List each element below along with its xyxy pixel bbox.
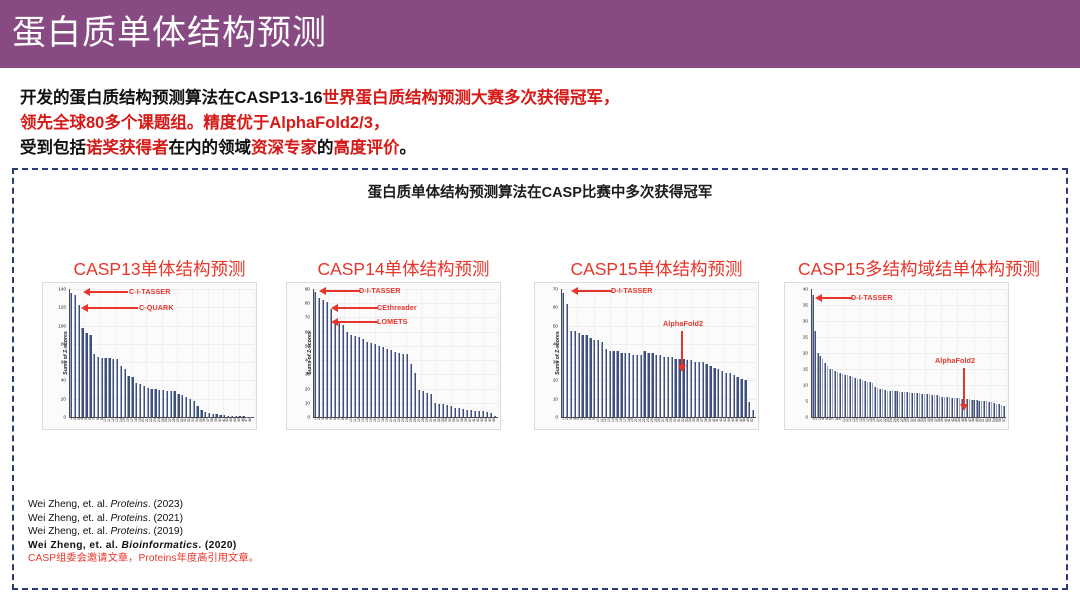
bar [906, 392, 908, 417]
bar [869, 382, 871, 417]
bar [829, 369, 831, 417]
bar [446, 405, 448, 417]
chart-title-casp15: CASP15单体结构预测 [534, 258, 779, 280]
charts-row: CASP13单体结构预测Sums of Z-scores020406080100… [24, 258, 1060, 458]
bar [458, 408, 460, 417]
annotation-label: C-QUARK [139, 303, 174, 312]
bar [921, 394, 923, 417]
bar [713, 368, 715, 417]
ref2-author: Wei Zheng, et. al. [28, 513, 111, 524]
bar [204, 412, 206, 417]
bar [402, 354, 404, 417]
bar [235, 416, 237, 417]
bar [901, 392, 903, 417]
bar [725, 373, 727, 417]
bar [986, 401, 988, 417]
bar-series [562, 289, 755, 417]
y-tick-label: 60 [543, 305, 558, 310]
bar [450, 406, 452, 417]
bar [632, 355, 634, 417]
bar [993, 403, 995, 417]
bar [877, 388, 879, 417]
bar [862, 380, 864, 417]
y-tick-label: 30 [543, 360, 558, 365]
x-tick-label: 50 [751, 418, 755, 430]
bar [215, 414, 217, 417]
bar [422, 391, 424, 417]
bar [219, 415, 221, 417]
bar [651, 353, 653, 417]
bar [705, 364, 707, 417]
bar [817, 353, 819, 417]
y-tick-label: 100 [51, 323, 66, 328]
bar [426, 393, 428, 417]
bar [837, 372, 839, 417]
bar [857, 379, 859, 417]
bar [486, 412, 488, 417]
bar [374, 344, 376, 417]
y-tick-label: 30 [295, 372, 310, 377]
bar [322, 300, 324, 417]
y-tick-label: 25 [793, 335, 808, 340]
bar [326, 302, 328, 417]
bar [1003, 406, 1005, 417]
bar [896, 391, 898, 417]
bar-series [812, 289, 1005, 417]
bar [844, 375, 846, 417]
bar [438, 404, 440, 418]
bar [832, 369, 834, 417]
vertical-gridline [1006, 289, 1007, 417]
bar [976, 400, 978, 417]
bar [698, 362, 700, 417]
bar [430, 394, 432, 417]
bar [894, 391, 896, 417]
annotation-label: CEthreader [377, 303, 417, 312]
bar [334, 322, 336, 417]
bar [729, 373, 731, 417]
y-tick-label: 40 [51, 378, 66, 383]
ref3-author: Wei Zheng, et. al. [28, 526, 111, 537]
bar [752, 410, 754, 417]
bar [904, 392, 906, 417]
reference-line: Wei Zheng, et. al. Proteins. (2021) [28, 512, 259, 526]
bar [909, 393, 911, 417]
bar [478, 411, 480, 417]
y-tick-label: 50 [295, 343, 310, 348]
bar [78, 305, 80, 417]
bar [864, 381, 866, 417]
bar [655, 355, 657, 417]
x-tick-labels: 1234567891011121314151617181920212223242… [314, 418, 497, 430]
bar [852, 377, 854, 417]
bar [566, 304, 568, 417]
plot-area-casp14: Sums of Z-scores010203040506070809012345… [286, 282, 501, 430]
bar [887, 391, 889, 417]
bar [934, 395, 936, 417]
bar [470, 410, 472, 417]
y-tick-label: 0 [51, 415, 66, 420]
plot-area-casp15: Sums of Z-scores010203040506070123456789… [534, 282, 759, 430]
bar [847, 375, 849, 417]
bar [839, 373, 841, 417]
y-tick-label: 40 [543, 341, 558, 346]
vertical-gridline [756, 289, 757, 417]
bar [74, 295, 76, 417]
panel-title: 蛋白质单体结构预测算法在CASP比赛中多次获得冠军 [14, 181, 1066, 202]
x-tick-labels: 1234567891011121314151617181920212223242… [812, 418, 1005, 430]
chart-casp14: CASP14单体结构预测Sums of Z-scores010203040506… [286, 258, 521, 430]
bar [362, 339, 364, 417]
bar [386, 349, 388, 417]
y-tick-label: 35 [793, 303, 808, 308]
ref1-author: Wei Zheng, et. al. [28, 499, 111, 510]
reference-line: Wei Zheng, et. al. Proteins. (2023) [28, 498, 259, 512]
ref4-journal: Bioinformatics [121, 540, 198, 551]
ref2-journal: Proteins [111, 513, 148, 524]
y-axis-label: Sums of Z-scores [307, 331, 313, 375]
bar [822, 359, 824, 417]
bar [969, 399, 971, 417]
bar [690, 360, 692, 417]
bar [956, 398, 958, 417]
bar [605, 349, 607, 417]
bar [812, 295, 814, 417]
annotation-label: AlphaFold2 [663, 319, 703, 328]
bar [740, 379, 742, 417]
bar [589, 338, 591, 417]
bar [914, 393, 916, 417]
references-block: Wei Zheng, et. al. Proteins. (2023) Wei … [28, 498, 259, 566]
bar [585, 335, 587, 417]
bar [944, 397, 946, 417]
bar [562, 293, 564, 417]
bar [139, 384, 141, 417]
reference-line: Wei Zheng, et. al. Proteins. (2019) [28, 525, 259, 539]
y-tick-label: 20 [295, 386, 310, 391]
bar [882, 389, 884, 417]
annotation-label: D-I-TASSER [611, 286, 653, 295]
bar [601, 342, 603, 417]
y-tick-label: 80 [51, 341, 66, 346]
x-tick-label: 48 [249, 418, 253, 430]
intro-line3-d: 资深专家 [251, 139, 317, 157]
bar [150, 389, 152, 417]
y-axis-label: Sums of Z-scores [555, 331, 561, 375]
chart-title-casp13: CASP13单体结构预测 [42, 258, 277, 280]
bar [246, 417, 248, 418]
annotation-label: LOMETS [377, 317, 408, 326]
bar [108, 358, 110, 417]
bar [354, 336, 356, 417]
bar [931, 395, 933, 417]
bar [919, 393, 921, 417]
y-tick-label: 40 [295, 358, 310, 363]
header-bar: 蛋白质单体结构预测 [0, 0, 1080, 68]
ref4-rest: . (2020) [198, 540, 236, 551]
y-tick-label: 80 [295, 301, 310, 306]
y-tick-label: 10 [793, 383, 808, 388]
bar [318, 298, 320, 417]
intro-line3-b: 诺奖获得者 [86, 139, 169, 157]
slide-root: 蛋白质单体结构预测 开发的蛋白质结构预测算法在CASP13-16世界蛋白质结构预… [0, 0, 1080, 603]
y-tick-label: 60 [51, 360, 66, 365]
y-tick-label: 0 [295, 415, 310, 420]
y-tick-label: 5 [793, 399, 808, 404]
bar [899, 392, 901, 417]
y-tick-label: 120 [51, 305, 66, 310]
bar [147, 388, 149, 417]
bar [212, 414, 214, 417]
y-axis-label: Sums of Z-scores [63, 331, 69, 375]
bar [879, 389, 881, 417]
y-tick-label: 20 [793, 351, 808, 356]
x-tick-labels: 1234567891011121314151617181920212223242… [562, 418, 755, 430]
y-tick-label: 20 [51, 396, 66, 401]
bar [490, 413, 492, 417]
bar [358, 337, 360, 417]
bar [996, 404, 998, 417]
bar [647, 353, 649, 417]
ref3-journal: Proteins [111, 526, 148, 537]
bar [988, 402, 990, 417]
x-tick-labels: 1234567891011121314151617181920212223242… [70, 418, 253, 430]
bar [736, 377, 738, 417]
bar [834, 371, 836, 417]
bar [124, 369, 126, 417]
bar [597, 340, 599, 417]
bar [81, 328, 83, 417]
annotation-label: D-I-TASSER [359, 286, 401, 295]
bar [462, 409, 464, 417]
bar [346, 332, 348, 417]
ref1-journal: Proteins [111, 499, 148, 510]
bar [394, 352, 396, 417]
y-tick-label: 40 [793, 287, 808, 292]
bar [663, 357, 665, 417]
intro-line1-red: 世界蛋白质结构预测大赛多次获得冠军， [323, 89, 620, 107]
intro-line2-red: 领先全球80多个课题组。精度优于AlphaFold2/3， [20, 114, 389, 132]
bar [189, 399, 191, 417]
bar [581, 335, 583, 417]
bar [620, 353, 622, 417]
annotation-label: C-I-TASSER [129, 287, 171, 296]
bar [983, 401, 985, 417]
bar [131, 377, 133, 417]
bar [97, 357, 99, 417]
ref4-author: Wei Zheng, et. al. [28, 540, 121, 551]
bar [85, 333, 87, 417]
bar [89, 335, 91, 417]
bar [694, 362, 696, 417]
bar [177, 394, 179, 417]
bar [929, 394, 931, 417]
bar [671, 357, 673, 417]
bar [926, 394, 928, 417]
bar [814, 331, 816, 417]
bar [93, 354, 95, 417]
bar [418, 390, 420, 417]
bar [181, 395, 183, 417]
bar [135, 383, 137, 417]
bar [116, 359, 118, 418]
page-title: 蛋白质单体结构预测 [12, 8, 327, 58]
bar [842, 374, 844, 417]
y-tick-label: 60 [295, 329, 310, 334]
bar [342, 325, 344, 417]
bar [659, 355, 661, 417]
bar [154, 389, 156, 417]
intro-line3-c: 在内的领域 [169, 139, 252, 157]
bar [143, 386, 145, 417]
y-tick-label: 50 [543, 323, 558, 328]
bar [951, 398, 953, 417]
bar [574, 331, 576, 417]
bar [570, 331, 572, 417]
y-tick-label: 70 [295, 315, 310, 320]
reference-note: CASP组委会邀请文章，Proteins年度高引用文章。 [28, 552, 259, 566]
intro-paragraph: 开发的蛋白质结构预测算法在CASP13-16世界蛋白质结构预测大赛多次获得冠军，… [20, 86, 1060, 161]
bar [978, 401, 980, 417]
y-tick-label: 140 [51, 287, 66, 292]
bar [872, 383, 874, 417]
bar [733, 375, 735, 417]
bar [482, 411, 484, 417]
bar [849, 376, 851, 417]
intro-line3-a: 受到包括 [20, 139, 86, 157]
bar [941, 397, 943, 417]
bar [867, 382, 869, 417]
bar [911, 393, 913, 417]
intro-line1-black: 开发的蛋白质结构预测算法在CASP13-16 [20, 89, 323, 107]
bar [827, 366, 829, 417]
annotation-label: D-I-TASSER [851, 293, 893, 302]
bar [170, 391, 172, 418]
bar [702, 362, 704, 417]
bar [991, 402, 993, 417]
bar [370, 343, 372, 417]
bar [889, 391, 891, 417]
bar [338, 323, 340, 417]
chart-casp15: CASP15单体结构预测Sums of Z-scores010203040506… [534, 258, 779, 430]
annotation-label: AlphaFold2 [935, 356, 975, 365]
ref1-rest: . (2023) [148, 499, 183, 510]
bar [709, 366, 711, 417]
bar [442, 404, 444, 417]
y-tick-label: 15 [793, 367, 808, 372]
bar [819, 356, 821, 417]
bar [101, 358, 103, 417]
bar [640, 355, 642, 417]
y-tick-label: 10 [295, 400, 310, 405]
bar [981, 401, 983, 417]
x-tick-label: 46 [493, 418, 497, 430]
bar [127, 376, 129, 417]
plot-area-casp15md: 0510152025303540123456789101112131415161… [784, 282, 1009, 430]
chart-title-casp15md: CASP15多结构域结单体构预测 [784, 258, 1054, 280]
bar [874, 387, 876, 417]
bar [686, 360, 688, 417]
bar [120, 366, 122, 417]
y-tick-label: 0 [793, 415, 808, 420]
bar [609, 351, 611, 417]
bar [350, 335, 352, 417]
bar [973, 400, 975, 417]
bar [314, 292, 316, 417]
bar [398, 353, 400, 417]
bar [494, 416, 496, 417]
y-tick-label: 10 [543, 396, 558, 401]
bar [971, 400, 973, 417]
bar [612, 351, 614, 417]
bar [200, 410, 202, 417]
ref3-rest: . (2019) [148, 526, 183, 537]
bar [162, 390, 164, 417]
bar [628, 353, 630, 417]
y-tick-label: 70 [543, 287, 558, 292]
chart-casp15md: CASP15多结构域结单体构预测051015202530354012345678… [784, 258, 1054, 430]
bar [667, 357, 669, 417]
bar [916, 393, 918, 417]
bar [998, 404, 1000, 417]
bar [636, 355, 638, 417]
intro-line-3: 受到包括诺奖获得者在内的领域资深专家的高度评价。 [20, 136, 1060, 161]
bar [208, 413, 210, 417]
bar [721, 371, 723, 417]
intro-line3-e: 的 [317, 139, 334, 157]
bar [946, 397, 948, 417]
bar [250, 417, 252, 418]
bar [474, 411, 476, 417]
bar [366, 342, 368, 417]
bar [242, 416, 244, 417]
bar [936, 395, 938, 417]
bar [434, 403, 436, 417]
bar [231, 416, 233, 417]
bar [949, 397, 951, 417]
reference-line: Wei Zheng, et. al. Bioinformatics. (2020… [28, 539, 259, 553]
bar [674, 359, 676, 418]
intro-line3-f: 高度评价 [334, 139, 400, 157]
bar [454, 408, 456, 417]
vertical-gridline [498, 289, 499, 417]
bar [892, 391, 894, 417]
bar [70, 293, 72, 417]
chart-title-casp14: CASP14单体结构预测 [286, 258, 521, 280]
bar [593, 340, 595, 417]
bar [238, 416, 240, 417]
bar [884, 390, 886, 417]
bar [390, 350, 392, 417]
bar [643, 351, 645, 417]
bar [939, 396, 941, 417]
bar [717, 369, 719, 417]
intro-line3-g: 。 [400, 139, 417, 157]
bar [466, 410, 468, 417]
y-tick-label: 30 [793, 319, 808, 324]
bar [227, 416, 229, 417]
bar [193, 401, 195, 417]
vertical-gridline [254, 289, 255, 417]
bar [112, 359, 114, 418]
bar [924, 394, 926, 417]
bar [954, 398, 956, 417]
bar [748, 402, 750, 417]
y-tick-label: 90 [295, 287, 310, 292]
bar [414, 373, 416, 417]
bar [158, 390, 160, 417]
bar [382, 347, 384, 417]
